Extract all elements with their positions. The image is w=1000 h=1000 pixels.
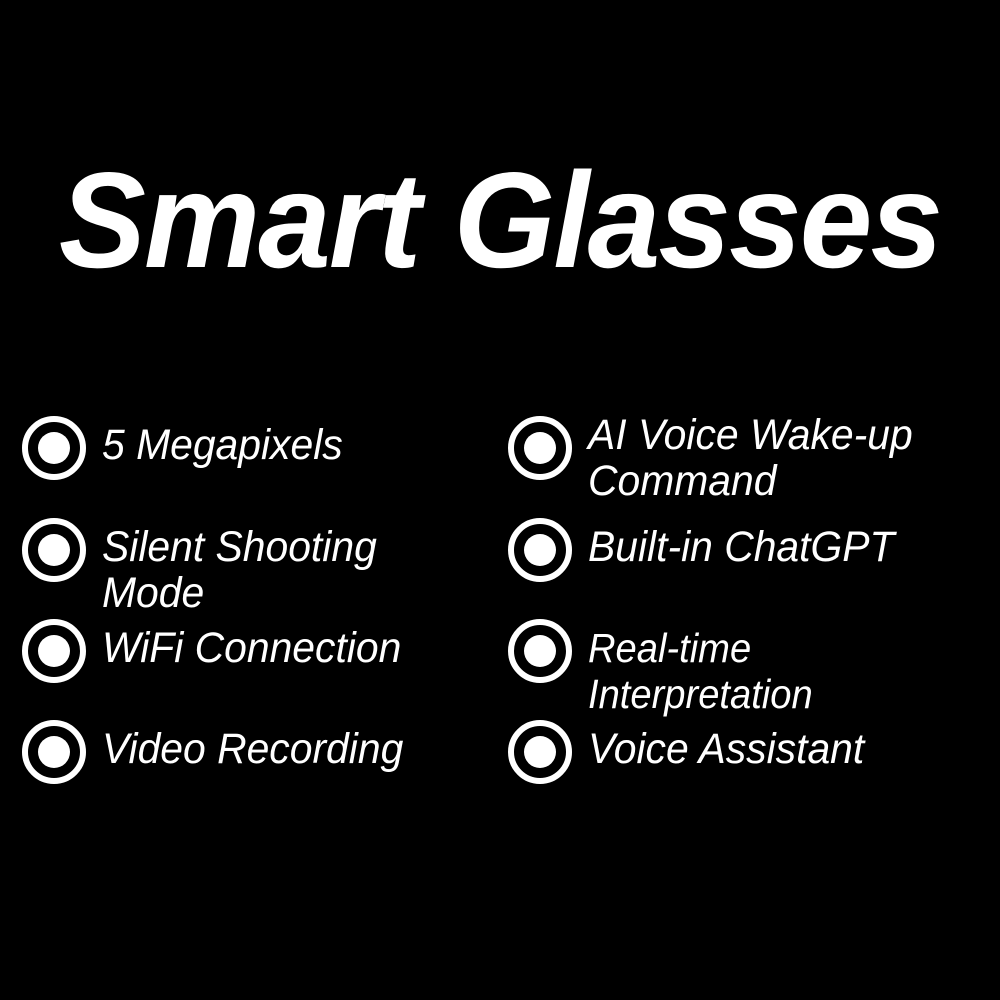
feature-column-right: AI Voice Wake-up Command Built-in ChatGP… (508, 400, 1000, 820)
feature-list: 5 Megapixels Silent Shooting Mode WiFi C… (0, 400, 1000, 820)
feature-label: 5 Megapixels (102, 422, 343, 468)
feature-label: WiFi Connection (102, 625, 401, 671)
feature-label: Video Recording (102, 726, 403, 772)
filled-circle-bullet-icon (508, 720, 572, 784)
filled-circle-bullet-icon (22, 416, 86, 480)
feature-column-left: 5 Megapixels Silent Shooting Mode WiFi C… (22, 400, 492, 820)
filled-circle-bullet-icon (508, 416, 572, 480)
feature-label: Real-time Interpretation (588, 625, 971, 717)
feature-label: AI Voice Wake-up Command (588, 412, 913, 504)
feature-label: Silent Shooting Mode (102, 524, 473, 616)
filled-circle-bullet-icon (22, 619, 86, 683)
filled-circle-bullet-icon (508, 619, 572, 683)
feature-label: Voice Assistant (588, 726, 864, 772)
feature-label: Built-in ChatGPT (588, 524, 894, 570)
product-feature-poster: Smart Glasses 5 Megapixels Silent Shooti… (0, 0, 1000, 1000)
filled-circle-bullet-icon (22, 518, 86, 582)
filled-circle-bullet-icon (508, 518, 572, 582)
page-title: Smart Glasses (20, 150, 980, 290)
filled-circle-bullet-icon (22, 720, 86, 784)
